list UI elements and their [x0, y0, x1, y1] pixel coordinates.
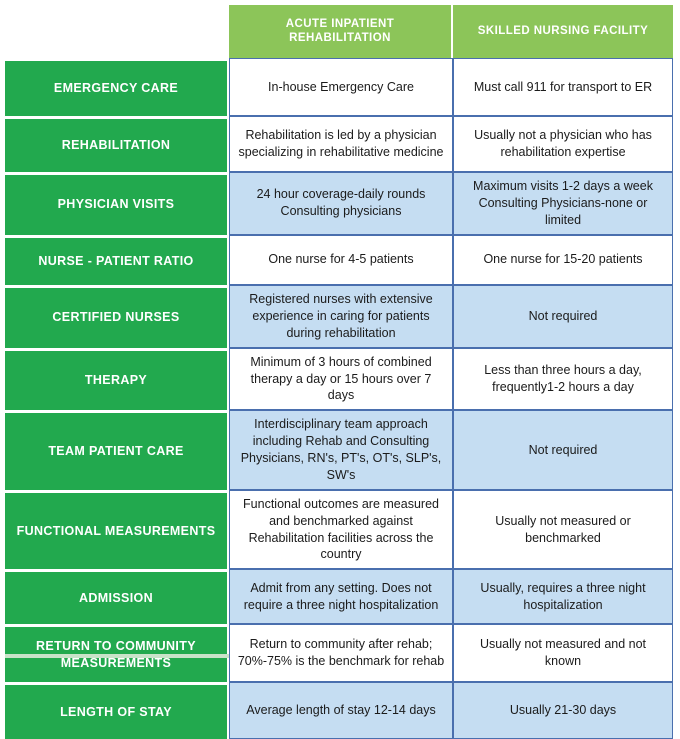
cell-skilled-nursing-facility: Not required	[453, 285, 673, 348]
row-label-cell: CERTIFIED NURSES	[5, 285, 229, 348]
row-label-cell: NURSE - PATIENT RATIO	[5, 235, 229, 285]
table-row: ADMISSIONAdmit from any setting. Does no…	[5, 569, 673, 624]
cell-acute-inpatient-rehabilitation: Average length of stay 12-14 days	[229, 682, 453, 739]
row-label-cell: ADMISSION	[5, 569, 229, 624]
cell-skilled-nursing-facility: One nurse for 15-20 patients	[453, 235, 673, 285]
cell-acute-inpatient-rehabilitation: One nurse for 4-5 patients	[229, 235, 453, 285]
comparison-table-container: ACUTE INPATIENT REHABILITATION SKILLED N…	[0, 5, 680, 659]
table-row: PHYSICIAN VISITS24 hour coverage-daily r…	[5, 172, 673, 235]
cell-acute-inpatient-rehabilitation: In-house Emergency Care	[229, 58, 453, 116]
cell-acute-inpatient-rehabilitation: Admit from any setting. Does not require…	[229, 569, 453, 624]
row-label-cell: THERAPY	[5, 348, 229, 411]
table-row: NURSE - PATIENT RATIOOne nurse for 4-5 p…	[5, 235, 673, 285]
table-row: THERAPYMinimum of 3 hours of combined th…	[5, 348, 673, 411]
table-row: EMERGENCY CAREIn-house Emergency CareMus…	[5, 58, 673, 116]
row-label-cell: FUNCTIONAL MEASUREMENTS	[5, 490, 229, 570]
cell-acute-inpatient-rehabilitation: Interdisciplinary team approach includin…	[229, 410, 453, 490]
table-row: LENGTH OF STAYAverage length of stay 12-…	[5, 682, 673, 739]
cell-skilled-nursing-facility: Usually not a physician who has rehabili…	[453, 116, 673, 172]
cell-skilled-nursing-facility: Maximum visits 1-2 days a week Consultin…	[453, 172, 673, 235]
column-header-skilled-nursing-facility: SKILLED NURSING FACILITY	[453, 5, 673, 58]
bottom-edge-strip	[5, 654, 229, 658]
row-label-cell: LENGTH OF STAY	[5, 682, 229, 739]
cell-acute-inpatient-rehabilitation: Rehabilitation is led by a physician spe…	[229, 116, 453, 172]
cell-skilled-nursing-facility: Not required	[453, 410, 673, 490]
row-label-cell: REHABILITATION	[5, 116, 229, 172]
row-label-cell: PHYSICIAN VISITS	[5, 172, 229, 235]
table-row: CERTIFIED NURSESRegistered nurses with e…	[5, 285, 673, 348]
comparison-table: ACUTE INPATIENT REHABILITATION SKILLED N…	[5, 5, 673, 739]
cell-acute-inpatient-rehabilitation: 24 hour coverage-daily rounds Consulting…	[229, 172, 453, 235]
cell-acute-inpatient-rehabilitation: Minimum of 3 hours of combined therapy a…	[229, 348, 453, 411]
row-label-cell: TEAM PATIENT CARE	[5, 410, 229, 490]
cell-skilled-nursing-facility: Must call 911 for transport to ER	[453, 58, 673, 116]
header-row: ACUTE INPATIENT REHABILITATION SKILLED N…	[5, 5, 673, 58]
cell-acute-inpatient-rehabilitation: Functional outcomes are measured and ben…	[229, 490, 453, 570]
cell-skilled-nursing-facility: Usually not measured or benchmarked	[453, 490, 673, 570]
cell-skilled-nursing-facility: Usually 21-30 days	[453, 682, 673, 739]
header-corner-blank	[5, 5, 229, 58]
table-row: FUNCTIONAL MEASUREMENTSFunctional outcom…	[5, 490, 673, 570]
column-header-acute-inpatient-rehabilitation: ACUTE INPATIENT REHABILITATION	[229, 5, 453, 58]
cell-acute-inpatient-rehabilitation: Registered nurses with extensive experie…	[229, 285, 453, 348]
row-label-cell: EMERGENCY CARE	[5, 58, 229, 116]
table-row: TEAM PATIENT CAREInterdisciplinary team …	[5, 410, 673, 490]
table-header: ACUTE INPATIENT REHABILITATION SKILLED N…	[5, 5, 673, 58]
table-body: EMERGENCY CAREIn-house Emergency CareMus…	[5, 58, 673, 739]
cell-skilled-nursing-facility: Usually not measured and not known	[453, 624, 673, 682]
cell-skilled-nursing-facility: Less than three hours a day, frequently1…	[453, 348, 673, 411]
table-row: REHABILITATIONRehabilitation is led by a…	[5, 116, 673, 172]
cell-skilled-nursing-facility: Usually, requires a three night hospital…	[453, 569, 673, 624]
cell-acute-inpatient-rehabilitation: Return to community after rehab; 70%-75%…	[229, 624, 453, 682]
